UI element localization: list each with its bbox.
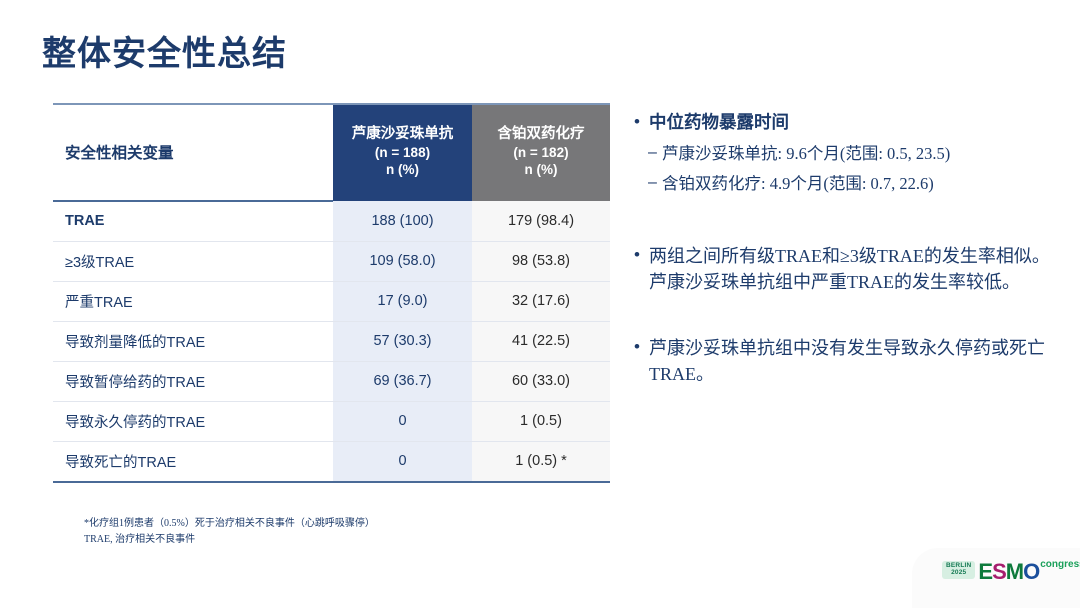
bullet-dot-icon: • [634,110,649,134]
row-value-arm2: 32 (17.6) [472,281,610,321]
column-header-arm1-n: (n = 188) [337,144,468,161]
dash-marker-icon: – [648,142,662,164]
berlin-2025-badge: BERLIN 2025 [942,561,975,579]
bullet-heading-exposure: 中位药物暴露时间 [649,110,1064,135]
row-value-arm2: 1 (0.5) [472,401,610,441]
row-label: 导致暂停给药的TRAE [53,361,333,401]
row-value-arm2: 179 (98.4) [472,201,610,241]
esmo-wordmark: ESMO [978,561,1039,583]
table-top-rule [53,103,610,105]
column-header-arm2-n: (n = 182) [476,144,606,161]
row-value-arm1: 57 (30.3) [333,321,472,361]
row-label: 导致永久停药的TRAE [53,401,333,441]
congress-label: congress [1040,559,1080,570]
esmo-letter-s: S [992,559,1006,584]
footnote-asterisk: *化疗组1例患者（0.5%）死于治疗相关不良事件（心跳呼吸骤停） [84,516,375,532]
table-row: 导致死亡的TRAE 0 1 (0.5) * [53,441,610,481]
dash-marker-icon: – [648,172,662,194]
sub-bullet-item: – 含铂双药化疗: 4.9个月(范围: 0.7, 22.6) [634,172,1064,195]
slide-root: 整体安全性总结 安全性相关变量 芦康沙妥珠单抗 (n = 188) n (%) [0,0,1080,608]
column-header-arm2-unit: n (%) [476,161,606,178]
row-value-arm1: 0 [333,441,472,481]
bullet-group-exposure: • 中位药物暴露时间 – 芦康沙妥珠单抗: 9.6个月(范围: 0.5, 23.… [634,110,1064,195]
bullet-group-discontinuation: • 芦康沙妥珠单抗组中没有发生导致永久停药或死亡TRAE。 [634,335,1064,387]
row-label: TRAE [53,201,333,241]
column-header-variable-label: 安全性相关变量 [65,145,174,162]
row-label: ≥3级TRAE [53,241,333,281]
footnote-abbreviations: TRAE, 治疗相关不良事件 [84,532,375,548]
row-value-arm2: 1 (0.5) * [472,441,610,481]
table-row: ≥3级TRAE 109 (58.0) 98 (53.8) [53,241,610,281]
table-body: TRAE 188 (100) 179 (98.4) ≥3级TRAE 109 (5… [53,201,610,481]
spacer [634,299,1064,335]
safety-summary-table: 安全性相关变量 芦康沙妥珠单抗 (n = 188) n (%) 含铂双药化疗 (… [53,103,610,481]
row-value-arm1: 188 (100) [333,201,472,241]
row-value-arm2: 98 (53.8) [472,241,610,281]
table-row: TRAE 188 (100) 179 (98.4) [53,201,610,241]
row-value-arm1: 69 (36.7) [333,361,472,401]
table-header-row: 安全性相关变量 芦康沙妥珠单抗 (n = 188) n (%) 含铂双药化疗 (… [53,103,610,201]
column-header-arm2-name: 含铂双药化疗 [476,125,606,144]
table-row: 导致剂量降低的TRAE 57 (30.3) 41 (22.5) [53,321,610,361]
esmo-letter-m: M [1006,559,1023,584]
bullet-text-incidence: 两组之间所有级TRAE和≥3级TRAE的发生率相似。 芦康沙妥珠单抗组中严重TR… [649,243,1064,295]
safety-table-container: 安全性相关变量 芦康沙妥珠单抗 (n = 188) n (%) 含铂双药化疗 (… [53,103,610,483]
esmo-congress-logo: BERLIN 2025 ESMO congress [942,561,1080,583]
row-value-arm1: 17 (9.0) [333,281,472,321]
column-header-arm1-unit: n (%) [337,161,468,178]
sub-bullet-arm2-exposure: 含铂双药化疗: 4.9个月(范围: 0.7, 22.6) [662,172,1064,195]
column-header-arm2: 含铂双药化疗 (n = 182) n (%) [472,103,610,201]
table-row: 导致暂停给药的TRAE 69 (36.7) 60 (33.0) [53,361,610,401]
sub-bullet-arm1-exposure: 芦康沙妥珠单抗: 9.6个月(范围: 0.5, 23.5) [662,142,1064,165]
page-title: 整体安全性总结 [42,26,287,75]
bullet-text-discontinuation: 芦康沙妥珠单抗组中没有发生导致永久停药或死亡TRAE。 [649,335,1064,387]
row-value-arm2: 60 (33.0) [472,361,610,401]
bullet-item: • 中位药物暴露时间 [634,110,1064,135]
esmo-letter-e: E [978,559,992,584]
column-header-arm1-name: 芦康沙妥珠单抗 [337,125,468,144]
bullet-item: • 芦康沙妥珠单抗组中没有发生导致永久停药或死亡TRAE。 [634,335,1064,387]
row-label: 导致死亡的TRAE [53,441,333,481]
row-value-arm1: 0 [333,401,472,441]
footnote-block: *化疗组1例患者（0.5%）死于治疗相关不良事件（心跳呼吸骤停） TRAE, 治… [84,516,375,548]
key-findings-list: • 中位药物暴露时间 – 芦康沙妥珠单抗: 9.6个月(范围: 0.5, 23.… [634,110,1064,391]
sub-bullet-item: – 芦康沙妥珠单抗: 9.6个月(范围: 0.5, 23.5) [634,142,1064,165]
table-bottom-rule [53,481,610,483]
berlin-year-label: 2025 [946,570,971,577]
column-header-variable: 安全性相关变量 [53,103,333,201]
row-label: 严重TRAE [53,281,333,321]
bullet-dot-icon: • [634,335,649,359]
table-row: 导致永久停药的TRAE 0 1 (0.5) [53,401,610,441]
row-value-arm2: 41 (22.5) [472,321,610,361]
bullet-group-incidence: • 两组之间所有级TRAE和≥3级TRAE的发生率相似。 芦康沙妥珠单抗组中严重… [634,243,1064,295]
row-label: 导致剂量降低的TRAE [53,321,333,361]
table-header: 安全性相关变量 芦康沙妥珠单抗 (n = 188) n (%) 含铂双药化疗 (… [53,103,610,201]
row-value-arm1: 109 (58.0) [333,241,472,281]
esmo-letter-o: O [1023,559,1039,584]
table-row: 严重TRAE 17 (9.0) 32 (17.6) [53,281,610,321]
bullet-dot-icon: • [634,243,649,267]
column-header-arm1: 芦康沙妥珠单抗 (n = 188) n (%) [333,103,472,201]
spacer [634,199,1064,243]
bullet-item: • 两组之间所有级TRAE和≥3级TRAE的发生率相似。 芦康沙妥珠单抗组中严重… [634,243,1064,295]
